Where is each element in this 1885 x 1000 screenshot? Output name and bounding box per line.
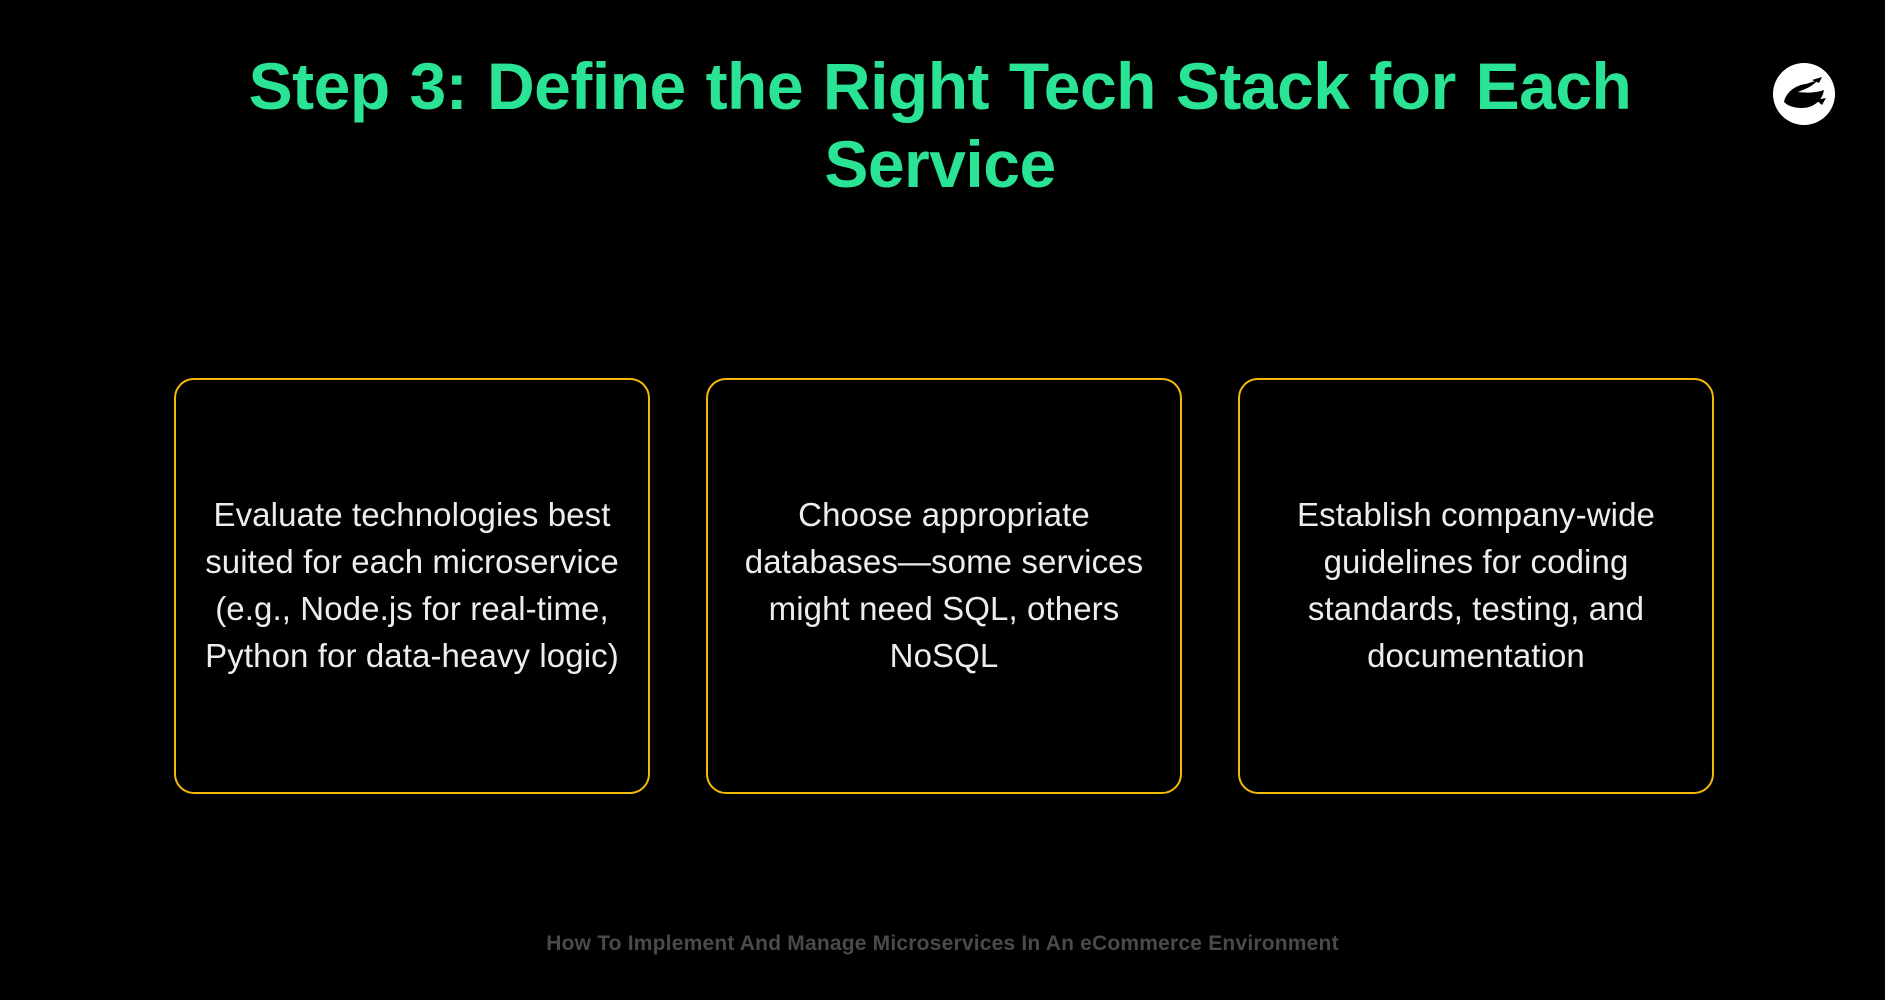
card-1-text: Evaluate technologies best suited for ea… xyxy=(202,492,622,679)
card-2[interactable]: Choose appropriate databases—some servic… xyxy=(706,378,1182,794)
card-3[interactable]: Establish company-wide guidelines for co… xyxy=(1238,378,1714,794)
title-block: Step 3: Define the Right Tech Stack for … xyxy=(160,48,1720,204)
page-title: Step 3: Define the Right Tech Stack for … xyxy=(160,48,1720,204)
footer: How To Implement And Manage Microservice… xyxy=(0,932,1885,956)
card-row: Evaluate technologies best suited for ea… xyxy=(174,378,1714,794)
card-3-text: Establish company-wide guidelines for co… xyxy=(1266,492,1686,679)
brand-logo-icon xyxy=(1772,62,1836,126)
card-1[interactable]: Evaluate technologies best suited for ea… xyxy=(174,378,650,794)
card-2-text: Choose appropriate databases—some servic… xyxy=(734,492,1154,679)
slide-canvas: Step 3: Define the Right Tech Stack for … xyxy=(0,0,1885,1000)
footer-caption: How To Implement And Manage Microservice… xyxy=(546,932,1339,955)
